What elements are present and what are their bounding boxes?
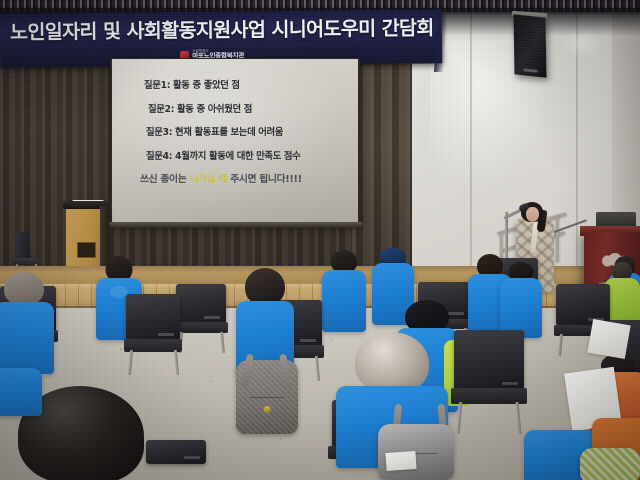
wall-loudspeaker bbox=[513, 14, 546, 77]
projection-screen: 질문1: 활동 중 좋았던 점 질문2: 활동 중 아쉬웠던 점 질문3: 현재… bbox=[112, 59, 358, 223]
slide-content: 질문1: 활동 중 좋았던 점 질문2: 활동 중 아쉬웠던 점 질문3: 현재… bbox=[112, 59, 358, 223]
handout-paper bbox=[587, 319, 630, 359]
audience-member bbox=[0, 368, 42, 416]
backpack bbox=[236, 360, 298, 434]
screen-bottom-bar bbox=[108, 222, 362, 228]
chair bbox=[126, 294, 180, 372]
chair bbox=[146, 440, 206, 480]
slide-note: 쓰신 종이는 나가실 때 주시면 됩니다!!!! bbox=[112, 171, 358, 185]
chair bbox=[176, 284, 226, 350]
slide-line-4: 질문4: 4월까지 활동에 대한 만족도 점수 bbox=[112, 148, 358, 162]
stage-chair-back bbox=[15, 232, 31, 261]
slide-note-highlight: 나가실 때 bbox=[189, 174, 227, 185]
audience-member bbox=[0, 272, 54, 368]
seminar-room-photo: 노인일자리 및 사회활동지원사업 시니어도우미 간담회 서울특별시 마포노인종합… bbox=[0, 0, 640, 480]
slide-note-suffix: 주시면 됩니다!!!! bbox=[227, 174, 302, 185]
speaker-grill bbox=[517, 18, 544, 75]
handout-paper bbox=[385, 451, 416, 471]
audience-member bbox=[500, 262, 542, 338]
chair bbox=[454, 330, 524, 430]
patterned-bag bbox=[580, 448, 640, 480]
slide-line-1: 질문1: 활동 중 좋았던 점 bbox=[112, 77, 358, 91]
slide-note-prefix: 쓰신 종이는 bbox=[140, 174, 189, 185]
slide-line-3: 질문3: 현재 활동표를 보는데 어려움 bbox=[112, 124, 358, 138]
audience-member bbox=[322, 250, 366, 330]
cabinet-panel bbox=[77, 242, 96, 258]
slide-line-2: 질문2: 활동 중 아쉬웠던 점 bbox=[112, 101, 358, 115]
banner-title: 노인일자리 및 사회활동지원사업 시니어도우미 간담회 bbox=[10, 11, 434, 44]
